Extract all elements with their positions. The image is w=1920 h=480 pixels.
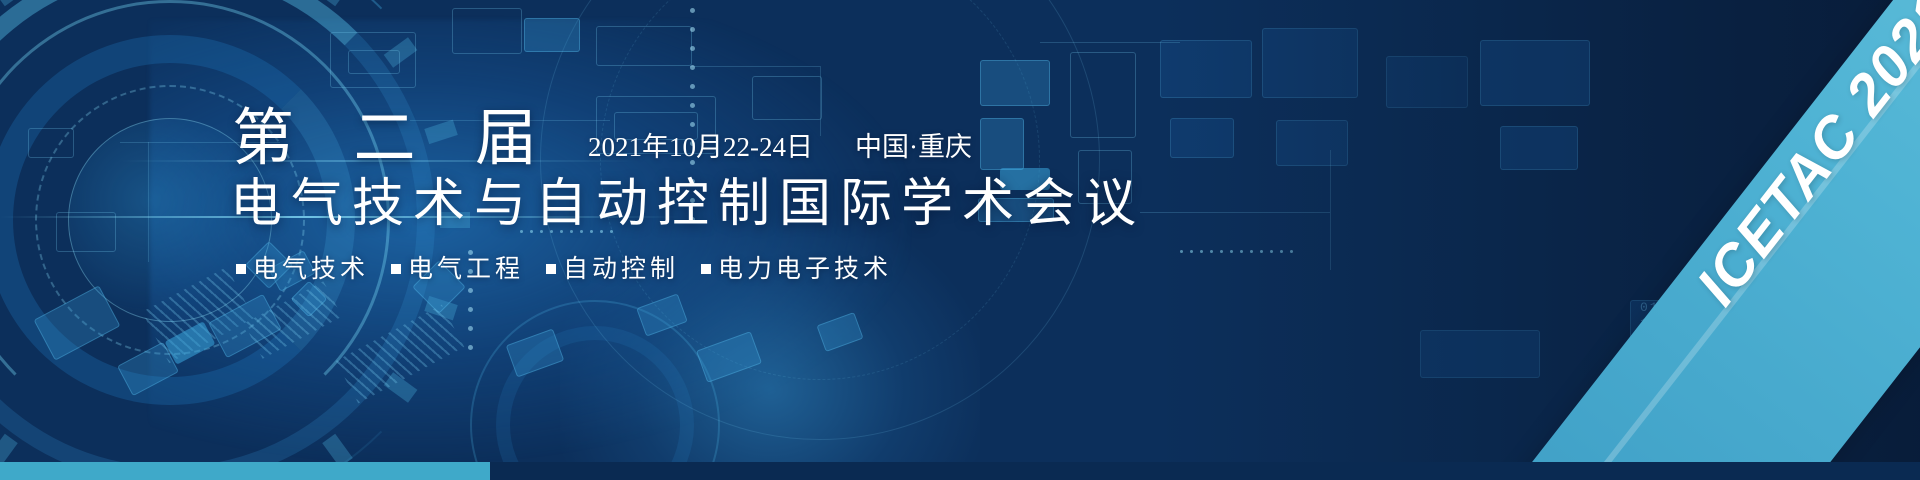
date-location-line: 2021年10月22-24日中国·重庆 bbox=[588, 130, 972, 164]
circuit-chip bbox=[1420, 330, 1540, 378]
conference-date: 2021年10月22-24日 bbox=[588, 132, 813, 162]
square-bullet-icon bbox=[701, 264, 711, 274]
topic-item: 自动控制 bbox=[546, 252, 679, 286]
topic-label: 自动控制 bbox=[563, 252, 679, 286]
conference-location: 中国·重庆 bbox=[855, 132, 972, 162]
text-content: 第 二 届 2021年10月22-24日中国·重庆 电气技术与自动控制国际学术会… bbox=[0, 0, 1280, 480]
bottom-bar-accent bbox=[0, 462, 490, 480]
topic-item: 电力电子技术 bbox=[701, 252, 892, 286]
topic-label: 电力电子技术 bbox=[718, 252, 892, 286]
square-bullet-icon bbox=[391, 264, 401, 274]
topic-label: 电气技术 bbox=[253, 252, 369, 286]
conference-banner: 0110 1001 0010 ICETAC 2021 第 二 届 2021年10… bbox=[0, 0, 1920, 480]
square-bullet-icon bbox=[546, 264, 556, 274]
topic-list: 电气技术 电气工程 自动控制 电力电子技术 bbox=[236, 252, 914, 286]
circuit-chip bbox=[1500, 126, 1578, 170]
circuit-chip bbox=[1480, 40, 1590, 106]
topic-label: 电气工程 bbox=[408, 252, 524, 286]
topic-item: 电气技术 bbox=[236, 252, 369, 286]
conference-title: 电气技术与自动控制国际学术会议 bbox=[230, 172, 1145, 238]
square-bullet-icon bbox=[236, 264, 246, 274]
topic-item: 电气工程 bbox=[391, 252, 524, 286]
edition-label: 第 二 届 bbox=[232, 104, 559, 174]
